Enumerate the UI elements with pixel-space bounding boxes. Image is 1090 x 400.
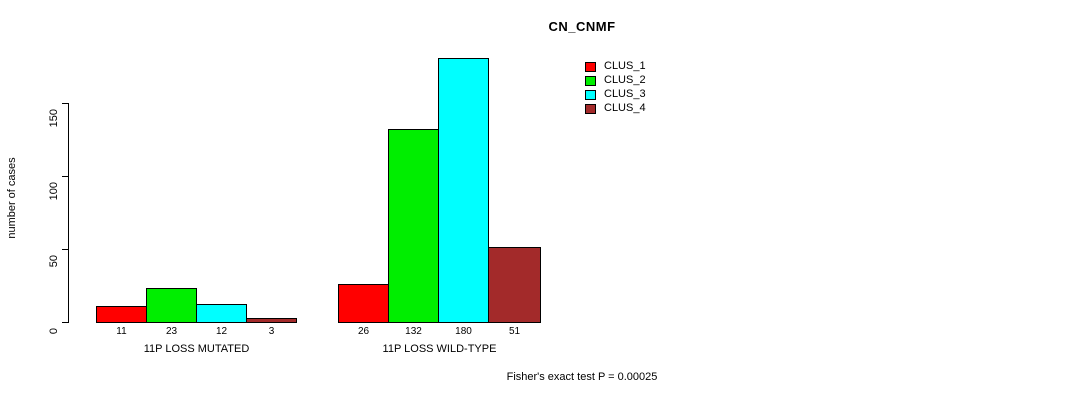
y-tick-label-50: 50 [48, 255, 60, 295]
legend-label-clus3: CLUS_3 [604, 88, 646, 101]
statistical-annotation: Fisher's exact test P = 0.00025 [462, 371, 702, 383]
bar-value-g1-clus2: 23 [146, 326, 197, 337]
y-tick-mark-100 [62, 176, 69, 177]
bar-g2-clus1 [338, 284, 389, 323]
bar-value-g1-clus3: 12 [196, 326, 247, 337]
legend-label-clus4: CLUS_4 [604, 102, 646, 115]
legend-label-clus1: CLUS_1 [604, 60, 646, 73]
y-tick-mark-150 [62, 103, 69, 104]
bar-value-g1-clus4: 3 [246, 326, 297, 337]
bar-g1-clus1 [96, 306, 147, 323]
bar-value-g2-clus1: 26 [338, 326, 389, 337]
page-title: CN_CNMF [462, 19, 702, 34]
group-label-wildtype: 11P LOSS WILD-TYPE [338, 343, 541, 355]
barplot-figure: CN_CNMF 0 50 100 150 number of cases 11 … [0, 0, 1090, 400]
y-tick-mark-0 [62, 322, 69, 323]
bar-value-g2-clus2: 132 [388, 326, 439, 337]
bar-g2-clus4 [488, 247, 541, 323]
legend-label-clus2: CLUS_2 [604, 74, 646, 87]
bar-value-g2-clus3: 180 [438, 326, 489, 337]
y-tick-mark-50 [62, 249, 69, 250]
y-axis-title: number of cases [6, 138, 18, 258]
legend-swatch-icon-clus2 [585, 76, 596, 86]
bar-value-g2-clus4: 51 [488, 326, 541, 337]
legend-swatch-icon-clus1 [585, 62, 596, 72]
y-tick-label-150: 150 [48, 109, 60, 149]
bar-g1-clus4 [246, 318, 297, 323]
y-tick-label-100: 100 [48, 182, 60, 222]
bar-g1-clus3 [196, 304, 247, 323]
bar-value-g1-clus1: 11 [96, 326, 147, 337]
legend-swatch-icon-clus3 [585, 90, 596, 100]
legend-swatch-icon-clus4 [585, 104, 596, 114]
bar-g2-clus2 [388, 129, 439, 323]
y-axis-line [68, 103, 69, 323]
group-label-mutated: 11P LOSS MUTATED [96, 343, 297, 355]
bar-g2-clus3 [438, 58, 489, 323]
y-tick-label-0: 0 [48, 328, 60, 368]
bar-g1-clus2 [146, 288, 197, 323]
